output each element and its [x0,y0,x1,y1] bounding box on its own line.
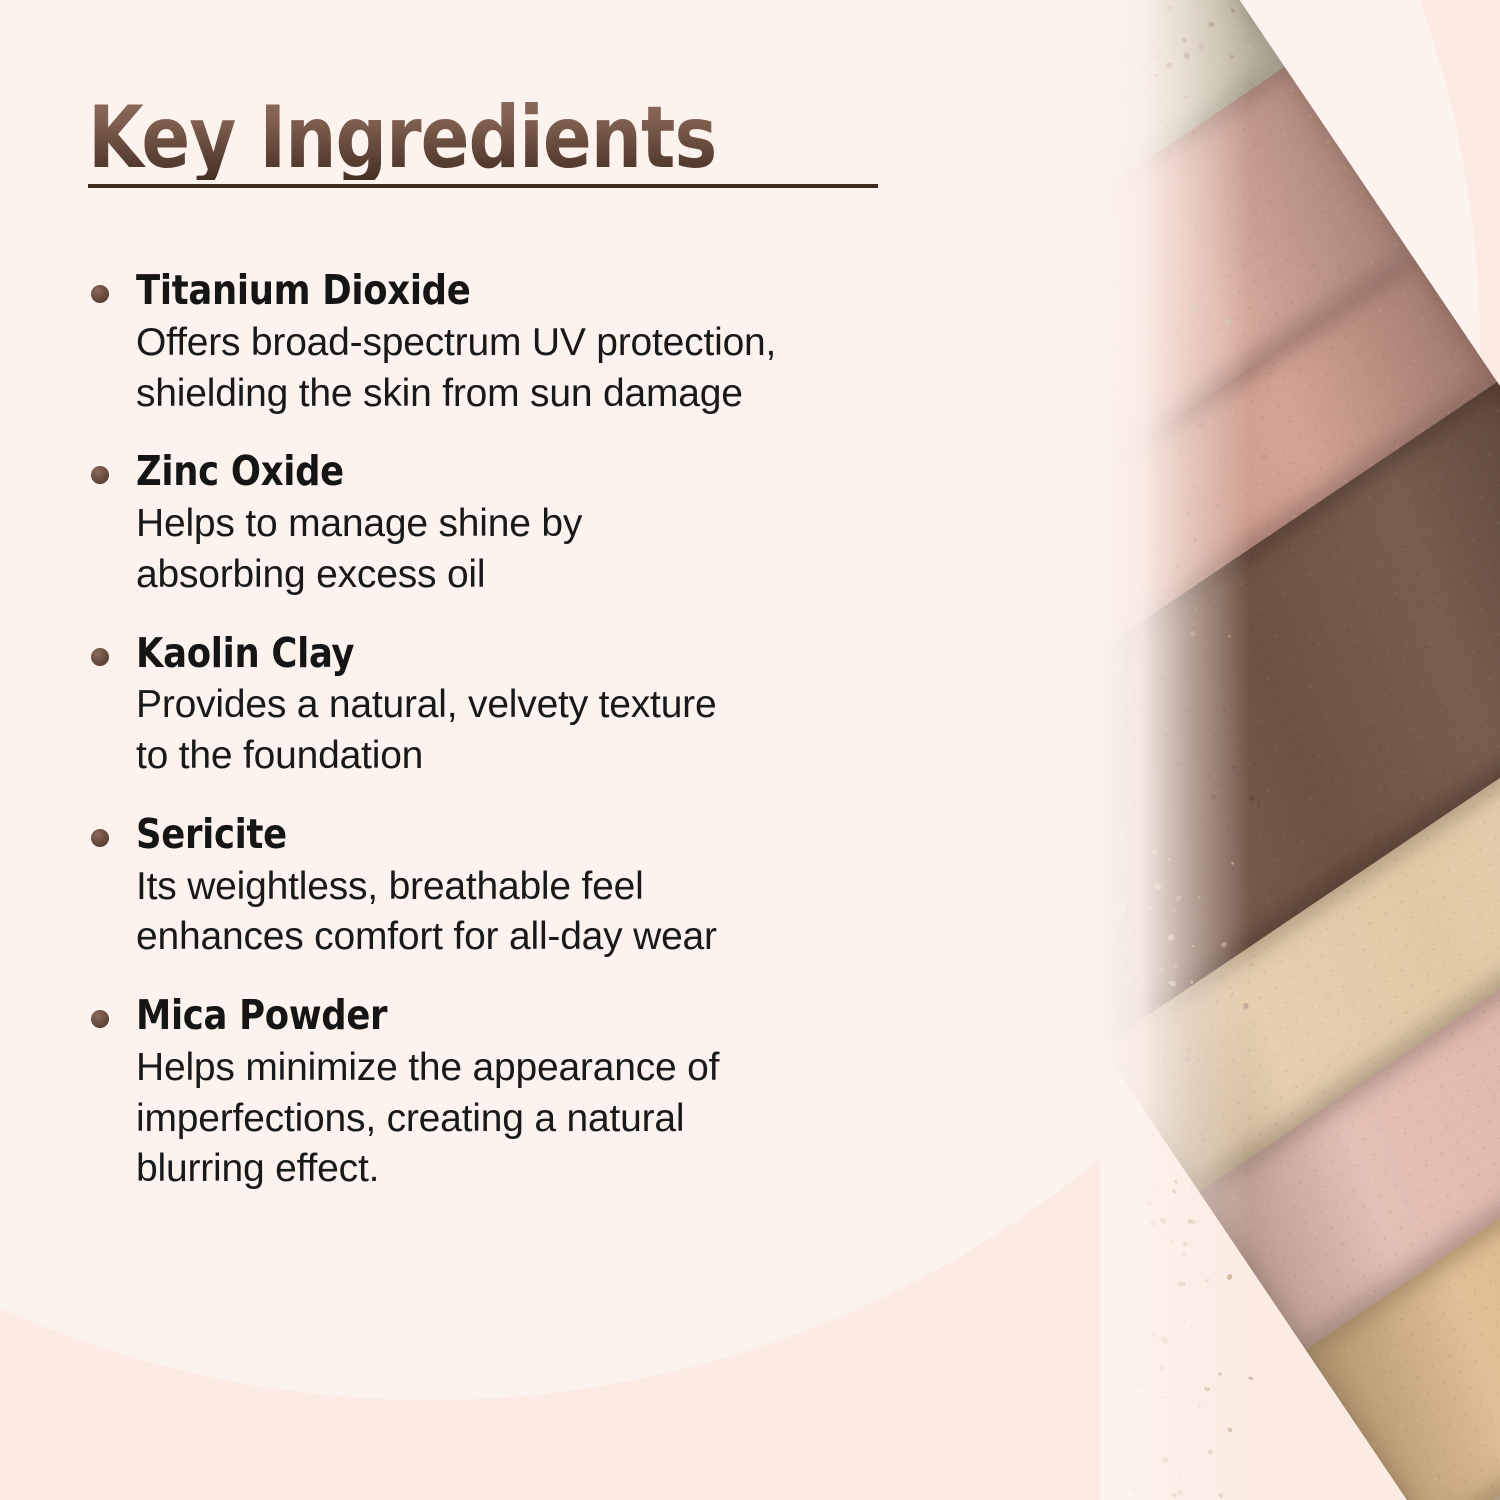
ingredient-name: Zinc Oxide [136,449,954,495]
powder-speck [1215,1288,1216,1289]
powder-speck [1113,1300,1117,1304]
powder-swatch-photo [1100,0,1500,1500]
ingredient-description-line: Helps minimize the appearance of [136,1043,988,1094]
powder-speck [1140,1491,1146,1497]
powder-speck [1136,1228,1139,1232]
title-underline [88,184,878,188]
powder-speck [1112,1141,1118,1147]
powder-speck [1161,1336,1169,1344]
ingredient-description: Its weightless, breathable feelenhances … [136,862,988,963]
ingredient-list: Titanium DioxideOffers broad-spectrum UV… [88,268,988,1195]
powder-speck [1183,1282,1185,1286]
powder-speck [1150,1183,1156,1189]
powder-speck [1135,1375,1138,1378]
powder-speck [1138,1342,1144,1348]
bullet-icon [91,829,109,847]
powder-speck [1151,1134,1155,1137]
powder-speck [1140,1414,1142,1416]
powder-speck [1208,1449,1213,1455]
powder-speck [1121,1397,1126,1402]
powder-speck [1174,1179,1178,1184]
powder-speck [1150,1332,1155,1338]
powder-speck [1121,1169,1127,1175]
ingredient-description-line: Helps to manage shine by [136,499,988,550]
powder-speck [1116,1317,1123,1323]
powder-speck [1162,1343,1163,1344]
powder-speck [1113,1274,1119,1278]
powder-speck [1133,1237,1139,1243]
powder-speck [1122,1147,1125,1150]
infographic-canvas: Key Ingredients Titanium DioxideOffers b… [0,0,1500,1500]
powder-swatch-bands [1100,0,1500,1500]
powder-speck [1176,1280,1183,1287]
ingredient-item: Titanium DioxideOffers broad-spectrum UV… [88,268,988,419]
powder-speck [1119,1099,1123,1103]
bullet-icon [91,648,109,666]
powder-speck [1116,1300,1122,1306]
powder-speck [1110,1267,1113,1270]
ingredient-name: Titanium Dioxide [136,268,954,314]
powder-speck [1130,1486,1139,1494]
powder-speck [1188,1219,1196,1226]
powder-speck [1191,1185,1193,1188]
ingredient-description: Offers broad-spectrum UV protection,shie… [136,318,988,419]
powder-speck [1186,1218,1193,1225]
powder-speck [1144,1373,1146,1374]
powder-speck [1113,1182,1118,1187]
powder-speck [1117,1123,1119,1125]
ingredient-description-line: to the foundation [136,731,988,782]
powder-speck [1205,1277,1211,1282]
powder-speck [1159,1217,1167,1224]
powder-speck [1115,1094,1118,1100]
ingredient-name: Mica Powder [136,993,954,1039]
powder-speck [1169,1238,1175,1244]
ingredient-description: Provides a natural, velvety textureto th… [136,680,988,781]
powder-speck [1177,1474,1181,1477]
powder-speck [1111,1267,1113,1269]
powder-speck [1120,1295,1122,1298]
powder-speck [1127,1241,1129,1244]
powder-speck [1131,1396,1135,1399]
powder-speck [1141,1275,1143,1278]
powder-speck [1140,1149,1144,1153]
powder-speck [1116,1283,1122,1289]
ingredient-description-line: enhances comfort for all-day wear [136,912,988,963]
ingredient-name: Sericite [136,812,954,858]
ingredient-item: Mica PowderHelps minimize the appearance… [88,993,988,1195]
page-title-wrap: Key Ingredients [88,96,888,180]
powder-speck [1199,1405,1202,1408]
powder-speck [1218,1493,1224,1499]
ingredient-item: SericiteIts weightless, breathable feele… [88,812,988,963]
powder-speck [1145,1434,1148,1437]
powder-speck [1120,1231,1125,1236]
powder-speck [1116,1079,1118,1082]
powder-speck [1124,1153,1129,1158]
page-title: Key Ingredients [88,96,832,180]
powder-speck [1182,1241,1188,1246]
powder-speck [1119,1478,1122,1482]
powder-speck [1126,1496,1129,1498]
powder-speck [1181,1252,1187,1258]
ingredient-description-line: blurring effect. [136,1144,988,1195]
ingredient-description-line: shielding the skin from sun damage [136,369,988,420]
ingredient-description-line: Its weightless, breathable feel [136,862,988,913]
powder-speck [1132,1265,1134,1266]
powder-speck [1117,1164,1122,1169]
text-column: Key Ingredients Titanium DioxideOffers b… [0,0,1090,1500]
powder-speck [1130,1403,1132,1405]
ingredient-description-line: Provides a natural, velvety texture [136,680,988,731]
powder-speck [1248,1376,1253,1380]
powder-speck [1139,1340,1142,1343]
powder-speck [1137,1381,1146,1389]
ingredient-item: Zinc OxideHelps to manage shine byabsorb… [88,449,988,600]
powder-speck [1177,1490,1183,1496]
powder-speck [1227,1427,1234,1433]
powder-speck [1114,1106,1119,1110]
powder-speck [1126,1235,1129,1237]
powder-speck [1116,1359,1118,1362]
powder-speck [1132,1166,1136,1170]
powder-speck [1162,1231,1164,1233]
powder-speck [1110,1327,1114,1332]
ingredient-item: Kaolin ClayProvides a natural, velvety t… [88,631,988,782]
powder-speck [1125,1389,1129,1393]
bullet-icon [91,285,109,303]
powder-speck [1160,1365,1167,1371]
powder-speck [1111,1160,1116,1165]
powder-speck [1164,1396,1168,1400]
powder-speck [1137,1420,1142,1425]
ingredient-description-line: Offers broad-spectrum UV protection, [136,318,988,369]
powder-speck [1147,1200,1153,1206]
powder-speck [1171,1492,1178,1499]
powder-speck [1140,1160,1143,1162]
powder-speck [1149,1220,1155,1227]
powder-speck [1118,1348,1123,1351]
powder-speck [1136,1111,1138,1112]
powder-speck [1124,1164,1129,1170]
ingredient-description: Helps to manage shine byabsorbing excess… [136,499,988,600]
powder-speck [1171,1189,1177,1194]
powder-speck [1115,1150,1116,1151]
ingredient-name: Kaolin Clay [136,631,954,677]
powder-speck [1130,1295,1133,1299]
bullet-icon [91,1010,109,1028]
powder-speck [1115,1330,1121,1337]
ingredient-description: Helps minimize the appearance ofimperfec… [136,1043,988,1195]
powder-speck [1217,1372,1222,1377]
powder-speck [1126,1208,1131,1212]
powder-speck [1112,1438,1116,1442]
bullet-icon [91,466,109,484]
powder-speck [1226,1273,1233,1281]
powder-speck [1162,1456,1170,1464]
powder-speck [1125,1434,1129,1438]
powder-speck [1126,1377,1127,1378]
powder-speck [1136,1351,1141,1356]
powder-speck [1183,1319,1185,1322]
powder-speck [1204,1386,1211,1392]
ingredient-description-line: absorbing excess oil [136,550,988,601]
powder-speck [1118,1114,1120,1116]
ingredient-description-line: imperfections, creating a natural [136,1094,988,1145]
